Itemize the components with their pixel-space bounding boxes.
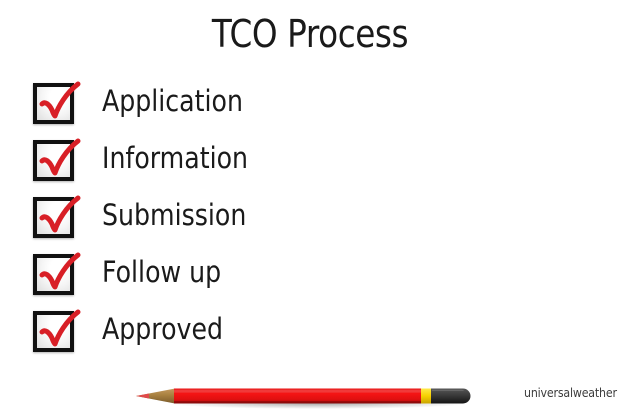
page-title: TCO Process <box>43 12 576 56</box>
watermark-text: universalweather <box>524 386 617 400</box>
checkbox-information[interactable] <box>33 140 74 181</box>
checklist-label: Approved <box>102 311 223 347</box>
checklist-label: Information <box>102 140 248 176</box>
checkmark-icon <box>33 77 85 129</box>
slide-canvas: TCO Process Application Information <box>0 0 620 420</box>
checkmark-icon <box>33 305 85 357</box>
checkbox-approved[interactable] <box>33 311 74 352</box>
checklist: Application Information Submission <box>33 83 453 368</box>
pencil-illustration <box>133 378 478 414</box>
checklist-item-submission[interactable]: Submission <box>33 197 453 254</box>
checklist-item-application[interactable]: Application <box>33 83 453 140</box>
checkmark-icon <box>33 248 85 300</box>
checkmark-icon <box>33 134 85 186</box>
checklist-label: Submission <box>102 197 246 233</box>
checklist-label: Application <box>102 83 243 119</box>
checkbox-application[interactable] <box>33 83 74 124</box>
checkbox-follow-up[interactable] <box>33 254 74 295</box>
checklist-label: Follow up <box>102 254 221 290</box>
checklist-item-approved[interactable]: Approved <box>33 311 453 368</box>
checkbox-submission[interactable] <box>33 197 74 238</box>
checkmark-icon <box>33 191 85 243</box>
checklist-item-follow-up[interactable]: Follow up <box>33 254 453 311</box>
checklist-item-information[interactable]: Information <box>33 140 453 197</box>
